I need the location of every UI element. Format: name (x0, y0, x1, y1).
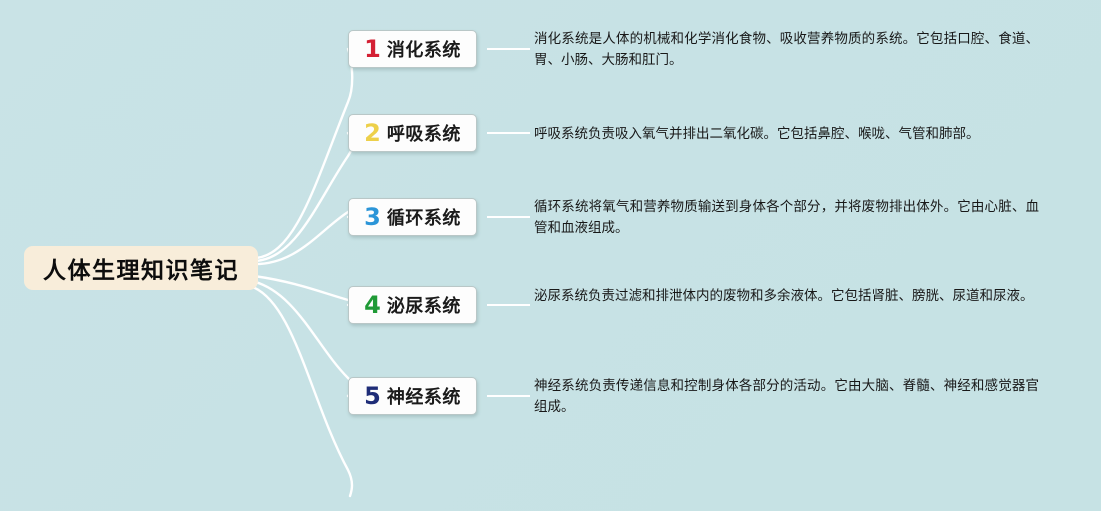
branch-description-5: 神经系统负责传递信息和控制身体各部分的活动。它由大脑、脊髓、神经和感觉器官组成。 (534, 375, 1039, 417)
branch-stem-4 (487, 304, 530, 306)
branch-node-4[interactable]: 4泌尿系统 (348, 286, 477, 324)
branch-stem-5 (487, 395, 530, 397)
branch-number-4: 4 (364, 293, 381, 317)
branch-number-5: 5 (364, 384, 381, 408)
branch-stem-3 (487, 216, 530, 218)
branch-number-3: 3 (364, 205, 381, 229)
connector-curve-4 (254, 276, 353, 305)
branch-node-3[interactable]: 3循环系统 (348, 198, 477, 236)
branch-number-2: 2 (364, 121, 381, 145)
connector-curve-5 (252, 281, 353, 396)
branch-description-4: 泌尿系统负责过滤和排泄体内的废物和多余液体。它包括肾脏、膀胱、尿道和尿液。 (534, 285, 1039, 306)
connector-curve-1 (256, 49, 352, 258)
mindmap-canvas: 人体生理知识笔记 1消化系统消化系统是人体的机械和化学消化食物、吸收营养物质的系… (0, 0, 1101, 511)
branch-title-5: 神经系统 (387, 383, 461, 409)
branch-stem-1 (487, 48, 530, 50)
branch-node-1[interactable]: 1消化系统 (348, 30, 477, 68)
branch-node-2[interactable]: 2呼吸系统 (348, 114, 477, 152)
branch-title-4: 泌尿系统 (387, 292, 461, 318)
branch-stem-2 (487, 132, 530, 134)
branch-description-1: 消化系统是人体的机械和化学消化食物、吸收营养物质的系统。它包括口腔、食道、胃、小… (534, 28, 1039, 70)
root-node-label: 人体生理知识笔记 (43, 251, 239, 285)
connector-curve-3 (252, 210, 353, 264)
branch-description-2: 呼吸系统负责吸入氧气并排出二氧化碳。它包括鼻腔、喉咙、气管和肺部。 (534, 123, 1039, 144)
branch-number-1: 1 (364, 37, 381, 61)
connector-curve-2 (254, 133, 353, 261)
branch-title-1: 消化系统 (387, 36, 461, 62)
branch-description-3: 循环系统将氧气和营养物质输送到身体各个部分，并将废物排出体外。它由心脏、血管和血… (534, 196, 1039, 238)
branch-title-3: 循环系统 (387, 204, 461, 230)
branch-title-2: 呼吸系统 (387, 120, 461, 146)
connector-curve-6 (250, 286, 352, 496)
root-node[interactable]: 人体生理知识笔记 (24, 246, 258, 290)
branch-node-5[interactable]: 5神经系统 (348, 377, 477, 415)
